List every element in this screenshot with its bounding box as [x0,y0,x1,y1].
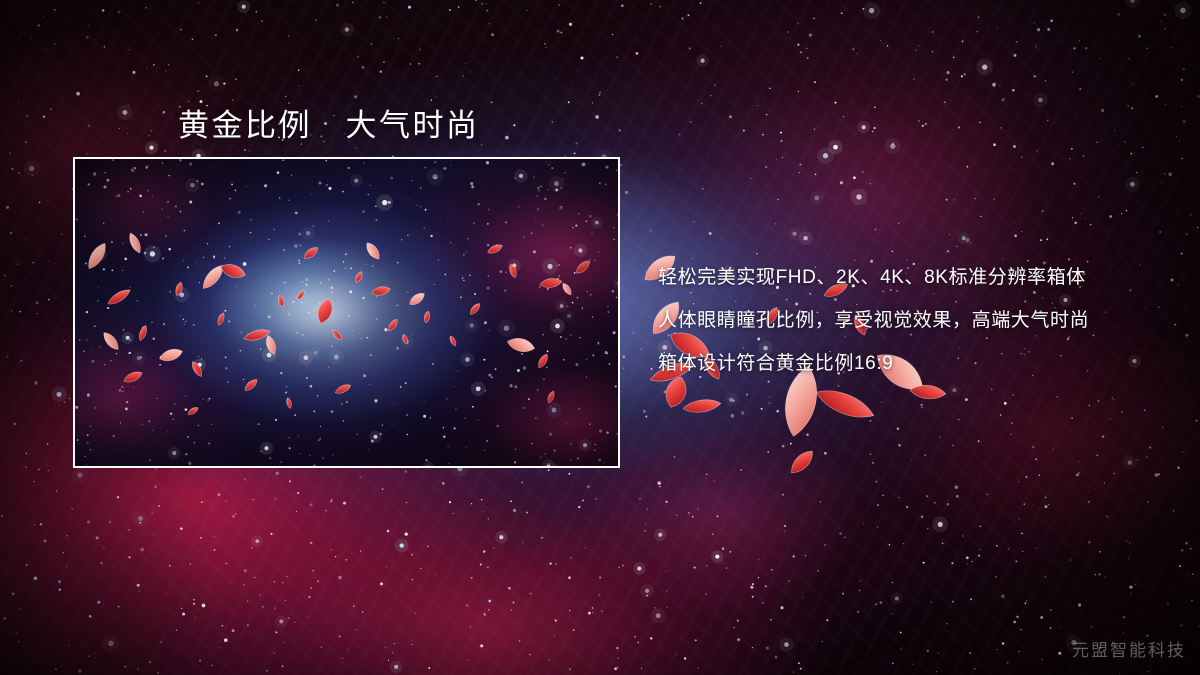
body-line-3: 箱体设计符合黄金比例16:9 [658,342,1178,385]
page-title: 黄金比例 大气时尚 [178,100,480,145]
photo-nebula-backdrop [75,159,618,466]
body-line-2: 人体眼睛瞳孔比例，享受视觉效果，高端大气时尚 [658,299,1178,342]
body-copy-block: 轻松完美实现FHD、2K、4K、8K标准分辨率箱体 人体眼睛瞳孔比例，享受视觉效… [658,256,1178,385]
presentation-slide: 黄金比例 大气时尚 [0,0,1200,675]
body-line-1: 轻松完美实现FHD、2K、4K、8K标准分辨率箱体 [658,256,1178,299]
watermark: 元盟智能科技 [1072,636,1186,661]
framed-galaxy-photo [73,157,620,468]
